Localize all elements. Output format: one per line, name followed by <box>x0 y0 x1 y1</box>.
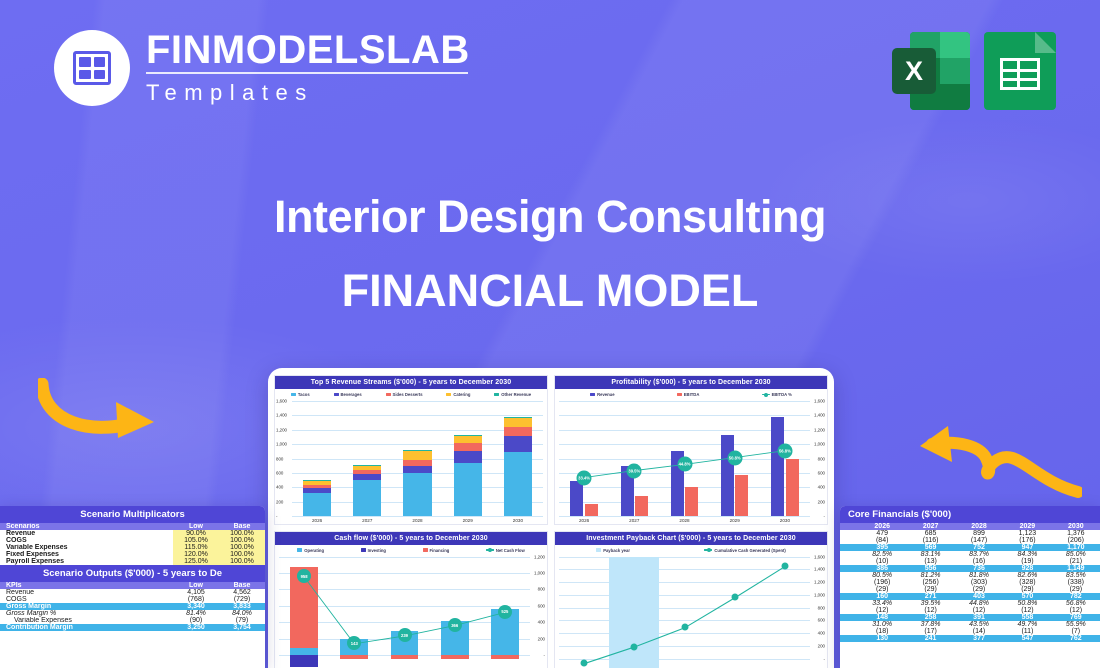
gridline <box>559 401 810 402</box>
brand-subtitle: Templates <box>146 80 470 106</box>
chart-panel-cash-flow[interactable]: Cash flow ($'000) - 5 years to December … <box>274 531 548 668</box>
row-value: 81.8% <box>955 572 1003 579</box>
row-value: 81.2% <box>906 572 954 579</box>
data-label-bubble: 958 <box>297 569 311 583</box>
scenario-multiplicators-rows: Revenue90.0%100.0%COGS105.0%100.0%Variab… <box>0 530 265 565</box>
row-value: (29) <box>955 586 1003 593</box>
x-tick-label: 2026 <box>312 518 322 523</box>
y-tick-label: 400 <box>276 485 283 490</box>
row-value: 43.5% <box>955 621 1003 628</box>
row-value: 1,376 <box>1052 530 1100 537</box>
chart-title-profitability: Profitability ($'000) - 5 years to Decem… <box>555 376 827 389</box>
table-row: Revenue90.0%100.0% <box>0 530 265 537</box>
row-value: (19) <box>1003 558 1051 565</box>
gridline <box>559 608 810 609</box>
table-row: (18)(17)(14)(11)(7) <box>840 628 1100 635</box>
chart-legend-profitability: Revenue EBITDA EBITDA % <box>555 389 827 398</box>
y-tick-label: 1,400 <box>276 413 287 418</box>
bar <box>771 417 784 516</box>
row-value: 782 <box>1052 593 1100 600</box>
row-value: (10) <box>858 558 906 565</box>
scenario-outputs-title: Scenario Outputs ($'000) - 5 years to De <box>0 565 265 582</box>
bar-segment <box>441 655 469 659</box>
row-value: (79) <box>219 617 265 624</box>
gridline <box>292 401 543 402</box>
scenario-outputs-rows: Revenue4,1054,562COGS(768)(729)Gross Mar… <box>0 589 265 631</box>
y-tick-label: 400 <box>818 631 825 636</box>
bar-segment <box>403 473 431 515</box>
row-value: 947 <box>1003 544 1051 551</box>
row-value: (14) <box>955 628 1003 635</box>
legend-item: Investing <box>361 548 386 553</box>
table-row: Variable Expenses(90)(79) <box>0 617 265 624</box>
col-2026: 2026 <box>858 523 906 530</box>
y-tick-label: 1,200 <box>814 427 825 432</box>
row-value: 685 <box>906 530 954 537</box>
table-row: (196)(256)(303)(328)(338) <box>840 579 1100 586</box>
row-value: (18) <box>858 628 906 635</box>
row-value: (147) <box>955 537 1003 544</box>
bar <box>735 475 748 516</box>
y-tick-label: 600 <box>538 603 545 608</box>
row-value: 569 <box>906 544 954 551</box>
data-label-bubble: 56.8% <box>777 443 792 458</box>
brand-name: FINMODELSLAB <box>146 30 470 70</box>
y-tick-label: 800 <box>818 456 825 461</box>
bar-segment <box>353 474 381 480</box>
row-value: 160 <box>858 593 906 600</box>
y-tick-label: 1,400 <box>814 413 825 418</box>
table-row: 33.4%39.5%44.8%50.8%56.8% <box>840 600 1100 607</box>
data-label-bubble: 143 <box>347 636 361 650</box>
table-row: (10)(13)(16)(19)(21) <box>840 558 1100 565</box>
x-tick-label: 2029 <box>463 518 473 523</box>
y-tick-label: 200 <box>276 499 283 504</box>
row-value: (256) <box>906 579 954 586</box>
row-value: 81.4% <box>173 610 219 617</box>
row-value: 83.1% <box>906 551 954 558</box>
row-value: 258 <box>906 614 954 621</box>
table-row: Revenue4,1054,562 <box>0 589 265 596</box>
col-2028: 2028 <box>955 523 1003 530</box>
row-value: 100.0% <box>219 530 265 537</box>
table-row: 160271403570782 <box>840 593 1100 600</box>
y-tick-label: 1,200 <box>534 554 545 559</box>
row-value: 125.0% <box>173 558 219 565</box>
row-label: Contribution Margin <box>0 624 173 631</box>
row-value: (176) <box>1003 537 1051 544</box>
col-2027: 2027 <box>906 523 954 530</box>
row-value: 82.6% <box>1003 572 1051 579</box>
row-value: 736 <box>955 565 1003 572</box>
row-value: 762 <box>1052 635 1100 642</box>
y-tick-label: 400 <box>538 620 545 625</box>
excel-icon: X <box>892 32 970 110</box>
row-value: 4,562 <box>219 589 265 596</box>
table-row: Contribution Margin3,2503,754 <box>0 624 265 631</box>
table-row: Variable Expenses115.0%100.0% <box>0 544 265 551</box>
row-value: 39.5% <box>906 600 954 607</box>
col-low: Low <box>173 523 219 530</box>
chart-legend-investment-payback: Payback year Cumulative Cash Generated (… <box>555 545 827 554</box>
table-row: Payroll Expenses125.0%100.0% <box>0 558 265 565</box>
gridline <box>559 557 810 558</box>
row-value: (12) <box>955 607 1003 614</box>
orange-arrow-left-icon <box>38 378 188 458</box>
y-tick-label: 800 <box>276 456 283 461</box>
chart-plot-profitability: -2004006008001,0001,2001,4001,6002026202… <box>555 398 827 524</box>
bar-segment <box>454 451 482 463</box>
bar <box>570 481 583 515</box>
gridline <box>559 659 810 660</box>
y-tick-label: - <box>824 656 825 661</box>
row-value: (196) <box>858 579 906 586</box>
chart-panel-investment-payback[interactable]: Investment Payback Chart ($'000) - 5 yea… <box>554 531 828 668</box>
legend-item: EBITDA % <box>762 392 792 397</box>
chart-title-investment-payback: Investment Payback Chart ($'000) - 5 yea… <box>555 532 827 545</box>
row-value: 50.8% <box>1003 600 1051 607</box>
legend-item: Operating <box>297 548 324 553</box>
core-financials-header: 2026 2027 2028 2029 2030 <box>840 523 1100 530</box>
row-value: 386 <box>858 565 906 572</box>
row-value: (7) <box>1052 628 1100 635</box>
y-tick-label: 600 <box>818 618 825 623</box>
chart-plot-investment-payback: (200)-2004006008001,0001,2001,4001,60020… <box>555 554 827 668</box>
row-value: (12) <box>1052 607 1100 614</box>
legend-item: Sides Desserts <box>386 392 423 397</box>
brand-divider <box>146 72 468 74</box>
grid-logo-icon <box>73 51 111 85</box>
row-value: 899 <box>955 530 1003 537</box>
y-tick-label: - <box>276 514 277 519</box>
x-tick-label: 2030 <box>513 518 523 523</box>
table-row: Gross Margin3,3403,833 <box>0 603 265 610</box>
payback-year-band <box>609 557 659 668</box>
data-label-bubble: 39.5% <box>627 463 642 478</box>
col-2029: 2029 <box>1003 523 1051 530</box>
row-value: 100.0% <box>219 544 265 551</box>
legend-item: Net Cash Flow <box>486 548 525 553</box>
bar-segment <box>303 481 331 485</box>
legend-item: Cumulative Cash Generated (Spent) <box>704 548 785 553</box>
row-value: (116) <box>906 537 954 544</box>
bar <box>635 496 648 515</box>
data-label-bubble: 525 <box>498 605 512 619</box>
row-label: Gross Margin <box>0 603 173 610</box>
page-subtitle: FINANCIAL MODEL <box>0 265 1100 317</box>
row-value: 44.8% <box>955 600 1003 607</box>
col-base: Base <box>219 582 265 589</box>
chart-legend-revenue-streams: Tacos Beverages Sides Desserts Catering … <box>275 389 547 398</box>
bar-segment <box>504 452 532 516</box>
row-value: 100.0% <box>219 558 265 565</box>
legend-item: Payback year <box>596 548 630 553</box>
table-row: 80.5%81.2%81.8%82.6%83.5% <box>840 572 1100 579</box>
table-row: 148258391558769 <box>840 614 1100 621</box>
row-value: 3,340 <box>173 603 219 610</box>
row-value: (303) <box>955 579 1003 586</box>
scenario-tables-card[interactable]: Scenario Multiplicators Scenarios Low Ba… <box>0 506 265 668</box>
legend-item: Catering <box>446 392 470 397</box>
bar-segment <box>504 436 532 451</box>
row-value: 558 <box>1003 614 1051 621</box>
core-financials-title: Core Financials ($'000) <box>840 506 1100 523</box>
col-2030: 2030 <box>1052 523 1100 530</box>
y-tick-label: 200 <box>818 499 825 504</box>
row-value: 83.5% <box>1052 572 1100 579</box>
bar <box>721 435 734 516</box>
data-label-bubble: 366 <box>448 618 462 632</box>
data-point <box>731 594 738 601</box>
row-label: Gross Margin % <box>0 610 173 617</box>
row-value: (12) <box>1003 607 1051 614</box>
row-value: 31.0% <box>858 621 906 628</box>
row-value: 391 <box>955 614 1003 621</box>
y-tick-label: 800 <box>538 587 545 592</box>
y-tick-label: - <box>824 514 825 519</box>
row-value: 85.0% <box>1052 551 1100 558</box>
row-value: (338) <box>1052 579 1100 586</box>
file-format-icons: X <box>892 32 1056 110</box>
chart-legend-cash-flow: Operating Investing Financing Net Cash F… <box>275 545 547 554</box>
row-value: (16) <box>955 558 1003 565</box>
col-base: Base <box>219 523 265 530</box>
bar-segment <box>290 655 318 667</box>
bar-segment <box>504 427 532 436</box>
y-tick-label: 200 <box>538 636 545 641</box>
row-value: 395 <box>858 544 906 551</box>
y-tick-label: 1,200 <box>814 580 825 585</box>
bar-segment <box>303 493 331 516</box>
y-tick-label: 1,000 <box>814 592 825 597</box>
data-point <box>681 624 688 631</box>
row-label: Payroll Expenses <box>0 558 173 565</box>
y-tick-label: 600 <box>276 470 283 475</box>
row-value: (12) <box>906 607 954 614</box>
chart-title-cash-flow: Cash flow ($'000) - 5 years to December … <box>275 532 547 545</box>
bar-segment <box>353 465 381 469</box>
row-value: (29) <box>1003 586 1051 593</box>
legend-item: Financing <box>423 548 450 553</box>
data-point <box>631 643 638 650</box>
row-value: 82.5% <box>858 551 906 558</box>
row-value: 84.3% <box>1003 551 1051 558</box>
legend-item: Revenue <box>590 392 614 397</box>
bar-segment <box>454 463 482 515</box>
y-tick-label: 1,000 <box>814 442 825 447</box>
y-tick-label: 1,400 <box>814 567 825 572</box>
row-value: (90) <box>173 617 219 624</box>
table-row: (12)(12)(12)(12)(12) <box>840 607 1100 614</box>
row-label: Revenue <box>0 530 173 537</box>
y-tick-label: 1,600 <box>814 554 825 559</box>
chart-title-revenue-streams: Top 5 Revenue Streams ($'000) - 5 years … <box>275 376 547 389</box>
orange-arrow-right-icon <box>912 418 1082 503</box>
bar <box>786 459 799 515</box>
row-value: (17) <box>906 628 954 635</box>
x-tick-label: 2026 <box>579 518 589 523</box>
bar <box>685 487 698 516</box>
gridline <box>559 595 810 596</box>
row-label: COGS <box>0 596 173 603</box>
row-value: 120.0% <box>173 551 219 558</box>
row-value: 547 <box>1003 635 1051 642</box>
col-kpis: KPIs <box>0 582 173 589</box>
row-value: 100.0% <box>219 551 265 558</box>
table-row: (84)(116)(147)(176)(206) <box>840 537 1100 544</box>
y-tick-label: 800 <box>818 605 825 610</box>
row-label: Variable Expenses <box>0 544 173 551</box>
table-row: COGS105.0%100.0% <box>0 537 265 544</box>
bar-segment <box>353 470 381 474</box>
excel-x-glyph: X <box>892 48 936 94</box>
x-tick-label: 2028 <box>412 518 422 523</box>
row-value: 241 <box>906 635 954 642</box>
row-value: 148 <box>858 614 906 621</box>
gridline <box>279 557 530 558</box>
gridline <box>559 582 810 583</box>
row-value: (84) <box>858 537 906 544</box>
row-label: Revenue <box>0 589 173 596</box>
row-value: 49.7% <box>1003 621 1051 628</box>
row-value: (206) <box>1052 537 1100 544</box>
row-value: 100.0% <box>219 537 265 544</box>
legend-item: Tacos <box>291 392 310 397</box>
row-value: 3,833 <box>219 603 265 610</box>
row-value: 1,170 <box>1052 544 1100 551</box>
row-value: (729) <box>219 596 265 603</box>
chart-panel-revenue-streams[interactable]: Top 5 Revenue Streams ($'000) - 5 years … <box>274 375 548 525</box>
x-tick-label: 2027 <box>362 518 372 523</box>
row-value: 752 <box>955 544 1003 551</box>
data-point <box>781 563 788 570</box>
row-value: 1,149 <box>1052 565 1100 572</box>
bar-segment <box>353 480 381 516</box>
bar-segment <box>504 417 532 427</box>
table-row: Gross Margin %81.4%84.0% <box>0 610 265 617</box>
logo-circle <box>54 30 130 106</box>
row-value: (29) <box>858 586 906 593</box>
row-value: 37.8% <box>906 621 954 628</box>
table-row: (29)(29)(29)(29)(29) <box>840 586 1100 593</box>
row-value: 377 <box>955 635 1003 642</box>
row-value: 479 <box>858 530 906 537</box>
row-label: Variable Expenses <box>0 617 173 624</box>
row-value: 90.0% <box>173 530 219 537</box>
table-row: 3865567369281,149 <box>840 565 1100 572</box>
row-value: 403 <box>955 593 1003 600</box>
row-value: 83.7% <box>955 551 1003 558</box>
row-value: 4,105 <box>173 589 219 596</box>
row-value: 55.9% <box>1052 621 1100 628</box>
table-row: 4796858991,1231,376 <box>840 530 1100 537</box>
row-label: COGS <box>0 537 173 544</box>
page-title: Interior Design Consulting <box>0 191 1100 243</box>
bar-segment <box>403 451 431 460</box>
y-tick-label: 400 <box>818 485 825 490</box>
row-value: 80.5% <box>858 572 906 579</box>
google-sheets-icon <box>984 32 1056 110</box>
bar-segment <box>403 466 431 473</box>
scenario-multiplicators-header: Scenarios Low Base <box>0 523 265 530</box>
x-tick-label: 2030 <box>780 518 790 523</box>
row-value: 3,754 <box>219 624 265 631</box>
row-value: 115.0% <box>173 544 219 551</box>
data-label-bubble: 239 <box>398 628 412 642</box>
brand-logo: FINMODELSLAB Templates <box>54 30 470 106</box>
table-row: 82.5%83.1%83.7%84.3%85.0% <box>840 551 1100 558</box>
bar-segment <box>303 488 331 492</box>
y-tick-label: 1,600 <box>814 399 825 404</box>
legend-item: EBITDA <box>677 392 700 397</box>
y-tick-label: - <box>544 653 545 658</box>
legend-item: Beverages <box>334 392 362 397</box>
table-row: 31.0%37.8%43.5%49.7%55.9% <box>840 621 1100 628</box>
row-value: 56.8% <box>1052 600 1100 607</box>
row-value: 928 <box>1003 565 1051 572</box>
dashboard-preview[interactable]: Top 5 Revenue Streams ($'000) - 5 years … <box>268 368 834 668</box>
row-value: 271 <box>906 593 954 600</box>
chart-plot-revenue-streams: -2004006008001,0001,2001,4001,6002026202… <box>275 398 547 524</box>
row-value: 84.0% <box>219 610 265 617</box>
row-value: (328) <box>1003 579 1051 586</box>
row-value: 3,250 <box>173 624 219 631</box>
bar-segment <box>340 655 368 659</box>
gridline <box>559 620 810 621</box>
row-value: (29) <box>906 586 954 593</box>
y-tick-label: 1,000 <box>534 570 545 575</box>
row-value: 1,123 <box>1003 530 1051 537</box>
gridline <box>559 569 810 570</box>
cumulative-cash-line <box>555 554 827 668</box>
row-label: Fixed Expenses <box>0 551 173 558</box>
gridline <box>559 633 810 634</box>
row-value: 769 <box>1052 614 1100 621</box>
row-value: 105.0% <box>173 537 219 544</box>
bar-segment <box>454 435 482 443</box>
row-value: 570 <box>1003 593 1051 600</box>
y-tick-label: 600 <box>818 470 825 475</box>
row-value: 130 <box>858 635 906 642</box>
y-tick-label: 200 <box>818 643 825 648</box>
x-tick-label: 2028 <box>679 518 689 523</box>
x-tick-label: 2029 <box>730 518 740 523</box>
table-row: 130241377547762 <box>840 635 1100 642</box>
col-scenarios: Scenarios <box>0 523 173 530</box>
bar-segment <box>491 655 519 659</box>
x-tick-label: 2027 <box>629 518 639 523</box>
row-value: (21) <box>1052 558 1100 565</box>
bar-segment <box>403 460 431 466</box>
row-value: 33.4% <box>858 600 906 607</box>
scenario-multiplicators-title: Scenario Multiplicators <box>0 506 265 523</box>
row-value: (12) <box>858 607 906 614</box>
bar-segment <box>454 443 482 451</box>
data-point <box>581 660 588 667</box>
row-value: 556 <box>906 565 954 572</box>
chart-plot-cash-flow: (200)-2004006008001,0001,200202620272028… <box>275 554 547 668</box>
core-financials-card[interactable]: Core Financials ($'000) 2026 2027 2028 2… <box>840 506 1100 668</box>
row-value: (29) <box>1052 586 1100 593</box>
y-tick-label: 1,600 <box>276 399 287 404</box>
table-row: Fixed Expenses120.0%100.0% <box>0 551 265 558</box>
y-tick-label: 1,000 <box>276 442 287 447</box>
y-tick-label: 1,200 <box>276 427 287 432</box>
core-financials-rows: 4796858991,1231,376(84)(116)(147)(176)(2… <box>840 530 1100 642</box>
data-label-bubble: 33.4% <box>577 470 592 485</box>
chart-panel-profitability[interactable]: Profitability ($'000) - 5 years to Decem… <box>554 375 828 525</box>
bar-segment <box>391 655 419 659</box>
